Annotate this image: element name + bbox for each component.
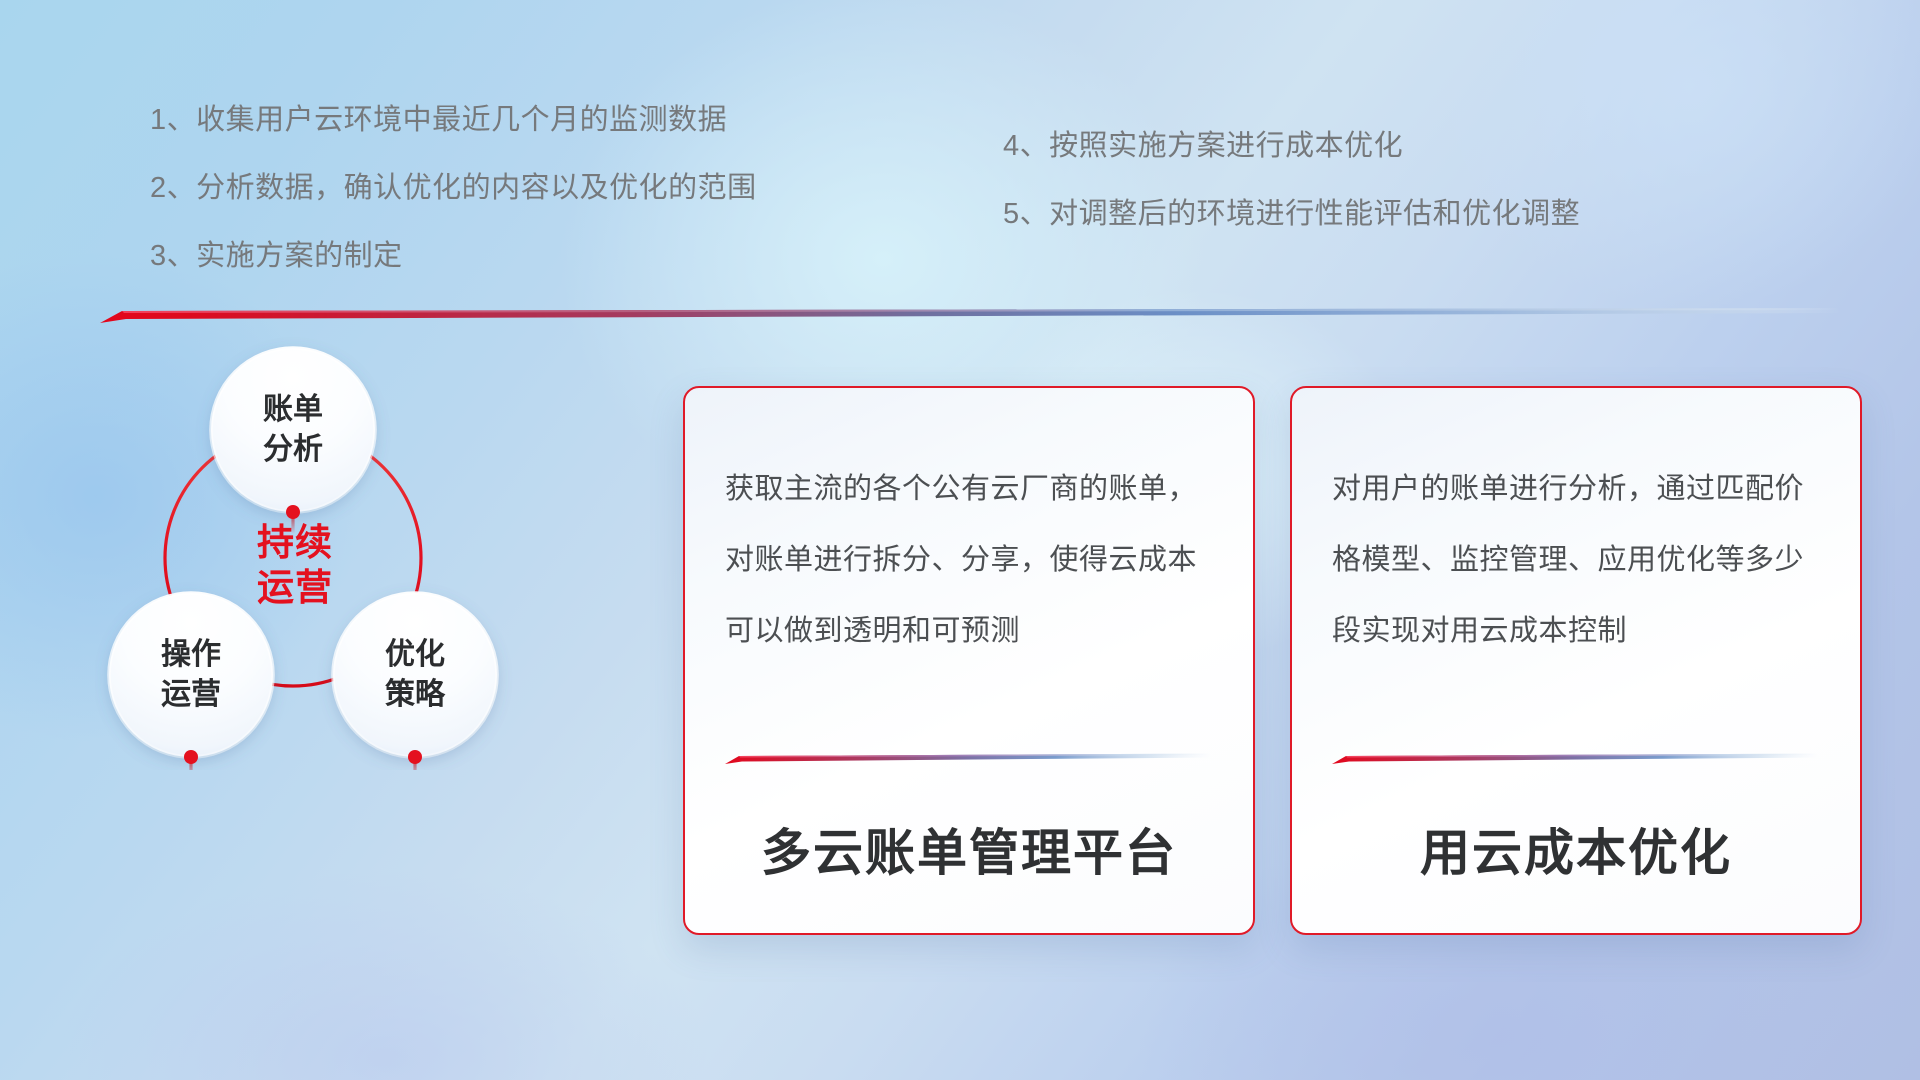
steps-right-column: 4、按照实施方案进行成本优化 5、对调整后的环境进行性能评估和优化调整	[1003, 122, 1580, 258]
feature-card-multicloud-billing[interactable]: 获取主流的各个公有云厂商的账单，对账单进行拆分、分享，使得云成本可以做到透明和可…	[683, 386, 1255, 935]
venn-node-bottom-right-line1: 优化	[385, 638, 445, 671]
node-dot	[184, 750, 198, 764]
bubble-shape	[109, 593, 273, 757]
venn-node-bottom-left[interactable]: 操作 运营	[109, 593, 273, 770]
step-item-3: 3、实施方案的制定	[150, 232, 757, 274]
section-divider	[100, 306, 1840, 323]
bubble-shape	[333, 593, 497, 757]
card-divider	[725, 752, 1211, 764]
step-item-2: 2、分析数据，确认优化的内容以及优化的范围	[150, 164, 757, 206]
steps-left-column: 1、收集用户云环境中最近几个月的监测数据 2、分析数据，确认优化的内容以及优化的…	[150, 96, 757, 300]
continuous-operation-diagram: 操作 运营 优化 策略 账单 分析 持续 运营	[95, 330, 565, 770]
card-body-text: 对用户的账单进行分析，通过匹配价格模型、监控管理、应用优化等多少段实现对用云成本…	[1332, 454, 1830, 667]
venn-node-bottom-right[interactable]: 优化 策略	[333, 593, 497, 770]
venn-node-top-line1: 账单	[263, 393, 323, 426]
venn-node-bottom-left-line2: 运营	[161, 678, 221, 711]
feature-card-cloud-cost-optimization[interactable]: 对用户的账单进行分析，通过匹配价格模型、监控管理、应用优化等多少段实现对用云成本…	[1290, 386, 1862, 935]
slide-canvas: 1、收集用户云环境中最近几个月的监测数据 2、分析数据，确认优化的内容以及优化的…	[0, 0, 1920, 1080]
card-divider	[1332, 752, 1818, 764]
venn-node-bottom-left-line1: 操作	[161, 638, 221, 671]
step-item-5: 5、对调整后的环境进行性能评估和优化调整	[1003, 190, 1580, 232]
bubble-shape	[211, 348, 375, 512]
card-title: 多云账单管理平台	[685, 813, 1253, 885]
step-item-4: 4、按照实施方案进行成本优化	[1003, 122, 1580, 164]
venn-node-bottom-right-line2: 策略	[385, 677, 446, 711]
node-dot	[286, 505, 300, 519]
venn-node-top[interactable]: 账单 分析	[211, 348, 375, 534]
venn-center-label-line1: 持续	[257, 522, 333, 563]
card-title: 用云成本优化	[1292, 813, 1860, 885]
venn-node-top-line2: 分析	[263, 433, 323, 466]
node-dot	[408, 750, 422, 764]
card-body-text: 获取主流的各个公有云厂商的账单，对账单进行拆分、分享，使得云成本可以做到透明和可…	[725, 454, 1223, 667]
venn-center-label-line2: 运营	[257, 567, 333, 608]
step-item-1: 1、收集用户云环境中最近几个月的监测数据	[150, 96, 757, 138]
